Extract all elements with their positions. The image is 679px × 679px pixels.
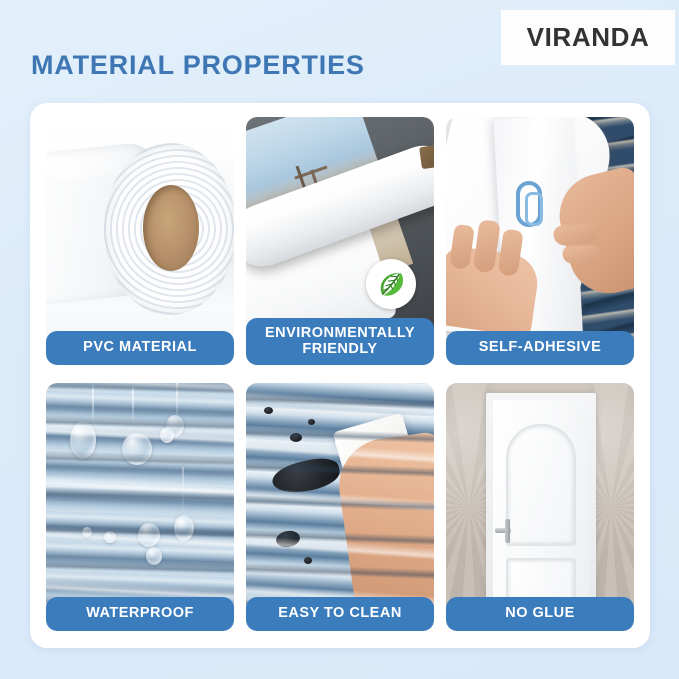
water-droplet-6 <box>104 531 116 543</box>
water-droplet-7 <box>138 523 160 547</box>
droplet-trail-3 <box>176 383 178 417</box>
feature-card-easy-to-clean[interactable]: EASY TO CLEAN <box>246 383 434 631</box>
feature-card-pvc-material[interactable]: PVC MATERIAL <box>46 117 234 365</box>
pvc-cardboard-core <box>143 185 199 271</box>
water-droplet-3 <box>166 415 184 437</box>
stain-smear-main <box>270 454 343 497</box>
no-glue-door-image <box>446 383 634 631</box>
pvc-roll-image <box>46 117 234 365</box>
feature-label-easy-to-clean: EASY TO CLEAN <box>246 597 434 631</box>
feature-label-no-glue: NO GLUE <box>446 597 634 631</box>
cleaning-cloth <box>332 413 423 510</box>
feature-label-waterproof: WATERPROOF <box>46 597 234 631</box>
water-droplet-5 <box>82 527 92 537</box>
easy-to-clean-image <box>246 383 434 631</box>
paperclip-icon <box>516 181 542 227</box>
roll-core-tip <box>419 144 434 169</box>
features-grid: PVC MATERIAL <box>46 117 634 631</box>
features-panel: PVC MATERIAL <box>30 103 650 648</box>
water-droplet-9 <box>146 547 162 565</box>
door-panel-upper <box>506 424 576 546</box>
feature-card-waterproof[interactable]: WATERPROOF <box>46 383 234 631</box>
feature-label-environmentally-friendly: ENVIRONMENTALLY FRIENDLY <box>246 318 434 365</box>
leaf-icon <box>376 269 406 299</box>
self-adhesive-image <box>446 117 634 365</box>
finger-index <box>553 223 598 246</box>
stain-spot-4 <box>334 435 344 443</box>
page-title: MATERIAL PROPERTIES <box>31 50 365 81</box>
eco-badge <box>366 259 416 309</box>
water-droplet-4 <box>160 427 174 443</box>
stain-spot-3 <box>290 433 302 442</box>
droplet-trail-4 <box>182 467 184 515</box>
door-handle <box>495 528 511 533</box>
feature-card-no-glue[interactable]: NO GLUE <box>446 383 634 631</box>
feature-label-pvc-material: PVC MATERIAL <box>46 331 234 365</box>
page-header: MATERIAL PROPERTIES VIRANDA <box>0 0 679 103</box>
waterproof-image <box>46 383 234 631</box>
stain-spot-2 <box>308 419 315 425</box>
stain-spot-5 <box>275 529 301 549</box>
water-droplet-1 <box>70 421 96 459</box>
stain-spot-1 <box>264 407 273 414</box>
finger-middle <box>563 246 601 264</box>
droplet-trail-1 <box>92 385 94 429</box>
brand-logo: VIRANDA <box>501 10 675 65</box>
droplet-trail-2 <box>132 387 134 423</box>
water-droplet-8 <box>174 515 194 541</box>
water-droplet-2 <box>122 433 152 465</box>
feature-card-environmentally-friendly[interactable]: ENVIRONMENTALLY FRIENDLY <box>246 117 434 365</box>
stain-spot-6 <box>304 557 312 564</box>
feature-card-self-adhesive[interactable]: SELF-ADHESIVE <box>446 117 634 365</box>
door-frame <box>486 393 596 631</box>
feature-label-self-adhesive: SELF-ADHESIVE <box>446 331 634 365</box>
brand-logo-text: VIRANDA <box>527 22 650 53</box>
